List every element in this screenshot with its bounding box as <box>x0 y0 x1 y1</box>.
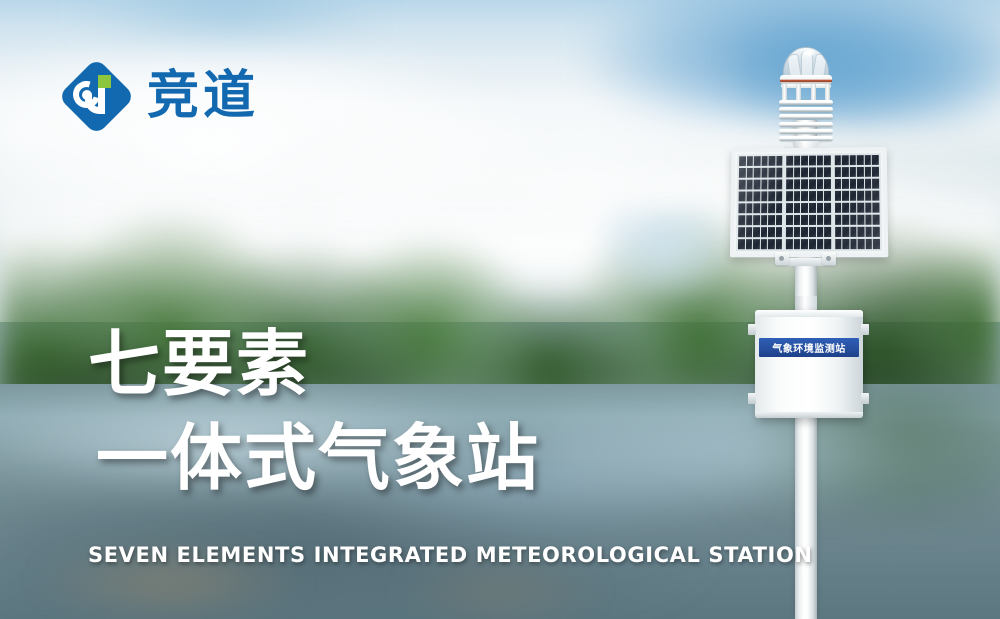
enclosure-latch <box>861 324 869 335</box>
solar-panel-column <box>786 155 831 249</box>
sensor-legs-top-plate <box>781 84 831 88</box>
control-enclosure: 气象环境监测站 <box>755 310 863 418</box>
sensor-leg <box>811 84 816 100</box>
solar-panel-column <box>738 156 783 249</box>
enclosure-label-text: 气象环境监测站 <box>772 340 846 355</box>
shield-plate <box>779 100 833 105</box>
radiation-shield <box>779 99 833 142</box>
enclosure-label: 气象环境监测站 <box>759 338 859 357</box>
weather-station-product: 气象环境监测站 <box>0 0 1000 619</box>
enclosure-hinge <box>748 324 756 335</box>
sensor-leg <box>796 84 801 100</box>
shield-plate <box>779 114 833 119</box>
dome-highlight <box>803 49 814 56</box>
panel-clamp <box>822 252 836 265</box>
enclosure-lid <box>755 310 863 317</box>
solar-panel-cells <box>736 153 882 251</box>
panel-clamp <box>775 252 789 265</box>
shield-plate <box>779 129 833 134</box>
enclosure-latch <box>861 393 869 404</box>
shield-plate <box>779 107 833 112</box>
subtitle: SEVEN ELEMENTS INTEGRATED METEOROLOGICAL… <box>88 543 813 567</box>
headline-line-1: 七要素 <box>88 326 540 402</box>
sensor-leg <box>782 84 787 100</box>
ultrasonic-sensor-dome-icon <box>783 47 829 78</box>
sensor-collar <box>780 75 832 84</box>
headline-line-2: 一体式气象站 <box>96 420 540 496</box>
shield-plate <box>779 122 833 127</box>
enclosure-base <box>755 412 863 418</box>
solar-panel <box>730 147 888 257</box>
solar-panel-column <box>834 155 880 249</box>
sensor-leg <box>825 84 830 100</box>
headline: 七要素 一体式气象站 <box>88 326 540 497</box>
product-banner: 竞道 <box>0 0 1000 619</box>
sensor-support-legs <box>781 84 831 100</box>
enclosure-hinge <box>748 393 756 404</box>
